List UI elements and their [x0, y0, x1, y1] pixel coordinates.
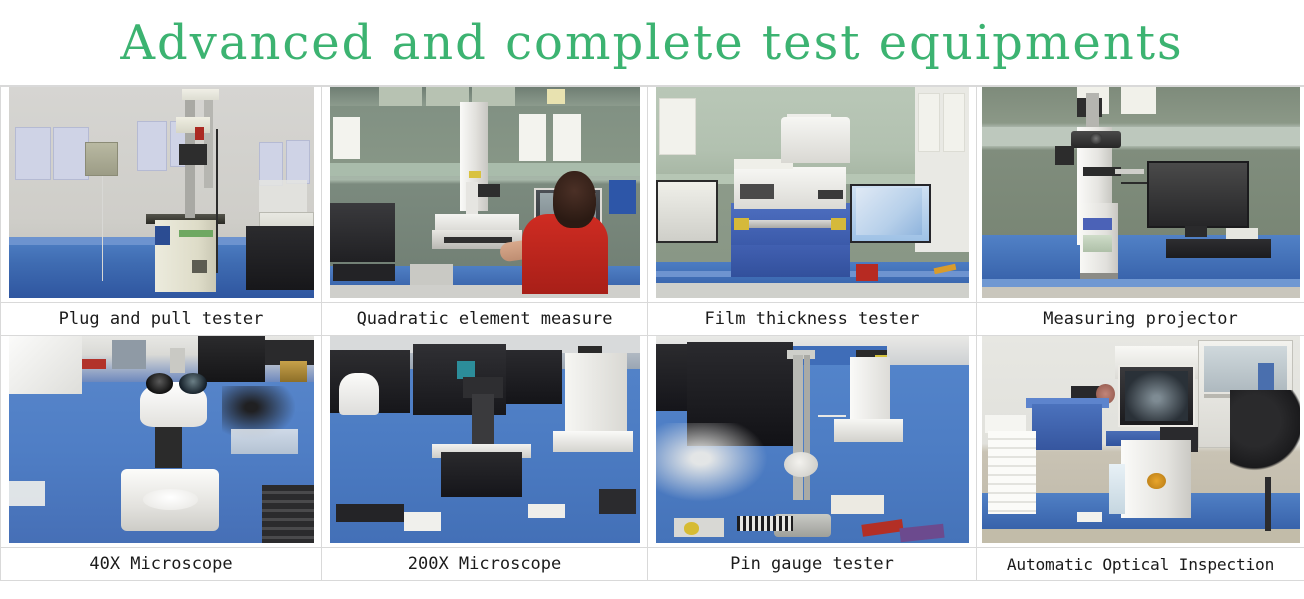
right-monitor-screen [856, 188, 922, 234]
tester-yellow-marker [734, 218, 750, 231]
monitor-right [506, 350, 562, 404]
gallery-cell-film-thickness-tester[interactable] [648, 87, 977, 303]
gallery-caption: Measuring projector [977, 304, 1304, 335]
white-paper [9, 481, 46, 506]
monitor-stand [1185, 226, 1207, 237]
projector-neck [1086, 93, 1099, 131]
keyboard [1166, 239, 1271, 258]
red-tool [82, 359, 106, 369]
bench-clutter [656, 423, 769, 502]
measuring-projector-photo [982, 87, 1300, 298]
keyboard [336, 504, 404, 523]
gallery-caption: Quadratic element measure [322, 304, 647, 335]
caliper-dial [684, 522, 700, 534]
clear-tray [231, 429, 298, 454]
caption-cell-automatic-optical-inspection: Automatic Optical Inspection [977, 548, 1304, 581]
gallery-cell-plug-and-pull-tester[interactable] [1, 87, 322, 303]
microscope-eyepiece-left [146, 373, 173, 394]
computer-monitor [330, 203, 395, 262]
200x-microscope-photo [330, 336, 640, 543]
microscope-stage-plate [143, 489, 198, 510]
gallery-caption: Plug and pull tester [1, 304, 321, 335]
projector-arm [1115, 169, 1144, 173]
wall-document [943, 93, 965, 152]
white-paper [404, 512, 441, 531]
gallery-image-row-1 [1, 87, 1304, 303]
dark-box [599, 489, 636, 514]
red-hand-tool [861, 520, 903, 538]
caption-cell-plug-and-pull-tester: Plug and pull tester [1, 303, 322, 336]
gallery-caption: Pin gauge tester [648, 549, 976, 580]
equipment-gallery-table: Plug and pull tester Quadratic element m… [0, 86, 1304, 581]
gallery-caption: 200X Microscope [322, 549, 647, 580]
white-box [831, 495, 884, 514]
gallery-cell-quadratic-element-measure[interactable] [322, 87, 648, 303]
parts-tray [410, 264, 453, 285]
gallery-cell-automatic-optical-inspection[interactable] [977, 336, 1304, 548]
wall-document [333, 117, 361, 159]
wall-document [15, 127, 52, 180]
blue-cabinet [609, 180, 637, 214]
cabinet-glass-door [1204, 346, 1287, 392]
wall-cable [102, 176, 104, 282]
computer-monitor [1147, 161, 1249, 229]
tester-column [204, 93, 213, 188]
metal-stand [112, 340, 146, 369]
wall-document [1121, 87, 1156, 114]
automatic-optical-inspection-photo [982, 336, 1300, 543]
binder [1258, 363, 1274, 390]
gallery-caption-row-2: 40X Microscope 200X Microscope Pin gauge… [1, 548, 1304, 581]
microscope-column [565, 353, 627, 440]
printer [781, 117, 850, 163]
microscope-eyepiece-right [179, 373, 206, 394]
gauge-stand-rail [793, 355, 802, 500]
projector-lcd-display [1083, 218, 1112, 231]
aoi-logo [1147, 473, 1166, 490]
plastic-bags [9, 336, 82, 394]
black-component-rack [262, 485, 314, 543]
left-monitor [656, 180, 719, 243]
gauge-cable [818, 415, 846, 417]
gallery-caption-row-1: Plug and pull tester Quadratic element m… [1, 303, 1304, 336]
tester-rail [734, 220, 847, 228]
keyboard [333, 264, 395, 281]
quadratic-element-measure-photo [330, 87, 640, 298]
tester-display-panel [155, 226, 170, 245]
floor [982, 287, 1300, 298]
tester-label [179, 230, 213, 236]
gallery-caption: Automatic Optical Inspection [977, 549, 1304, 580]
pin-gauge-tester-photo [656, 336, 969, 543]
purple-tool [899, 524, 944, 543]
tester-wire [216, 129, 218, 272]
page-title-row: Advanced and complete test equipments [0, 0, 1304, 86]
gallery-image-row-2 [1, 336, 1304, 548]
white-paper [528, 504, 565, 518]
microscope-stage-block [441, 452, 522, 498]
tester-indicator-lights [818, 190, 843, 198]
gallery-caption: 40X Microscope [1, 549, 321, 580]
caption-cell-measuring-projector: Measuring projector [977, 303, 1304, 336]
wall-document [519, 114, 547, 160]
wall-sticker [547, 89, 566, 104]
aoi-display-image [1125, 371, 1189, 421]
machine-clamp [444, 237, 512, 243]
microscope-top-mount [170, 348, 185, 373]
projector-keypad [1083, 235, 1112, 252]
machine-knob [478, 184, 500, 197]
wall-document [659, 98, 697, 155]
gauge-stand-rail [804, 355, 810, 500]
plug-and-pull-tester-photo [9, 87, 314, 298]
zoom-column [472, 394, 494, 448]
projector-lens [1090, 133, 1103, 144]
tester-yellow-marker [831, 218, 847, 231]
computer-monitor [246, 226, 313, 289]
equipment-gallery-page: Advanced and complete test equipments [0, 0, 1304, 599]
water-bottle [1109, 464, 1125, 514]
gallery-cell-pin-gauge-tester[interactable] [648, 336, 977, 548]
tester-nameplate [740, 184, 774, 199]
caption-cell-film-thickness-tester: Film thickness tester [648, 303, 977, 336]
gauge-dial-indicator [784, 452, 818, 477]
caption-cell-pin-gauge-tester: Pin gauge tester [648, 548, 977, 581]
workbench-edge [982, 279, 1300, 287]
caption-cell-200x-microscope: 200X Microscope [322, 548, 648, 581]
caliper [674, 518, 724, 537]
white-paper [1077, 512, 1102, 522]
white-stock-stack [988, 431, 1036, 514]
wall-document [918, 93, 940, 152]
microscope-base [553, 431, 634, 452]
shelf-box [379, 87, 422, 106]
floor [982, 529, 1300, 543]
blue-machine [1032, 404, 1102, 450]
tester-vent [192, 260, 207, 273]
film-thickness-tester-photo [656, 87, 969, 298]
wall-control-box [85, 142, 119, 176]
gallery-cell-measuring-projector[interactable] [977, 87, 1304, 303]
white-box [1226, 228, 1258, 239]
projector-side-module [1055, 146, 1074, 165]
wall-band [982, 127, 1300, 146]
page-title: Advanced and complete test equipments [120, 15, 1183, 71]
machine-label [469, 171, 481, 177]
40x-microscope-photo [9, 336, 314, 543]
caption-cell-quadratic-element-measure: Quadratic element measure [322, 303, 648, 336]
wall-document [286, 140, 310, 184]
red-container [856, 264, 878, 281]
tester-head [176, 117, 210, 134]
dark-equipment [198, 336, 265, 382]
tester-load-cell [195, 127, 204, 140]
gallery-cell-40x-microscope[interactable] [1, 336, 322, 548]
tester-gripper [179, 144, 206, 165]
microscope-base [834, 419, 903, 442]
wall-document [137, 121, 168, 172]
caption-cell-40x-microscope: 40X Microscope [1, 548, 322, 581]
projector-feet [1080, 273, 1118, 279]
wall-document [553, 114, 581, 160]
floor [656, 283, 969, 298]
gallery-cell-200x-microscope[interactable] [322, 336, 648, 548]
brass-fixtures [280, 361, 307, 382]
gallery-caption: Film thickness tester [648, 304, 976, 335]
tester-crosshead [182, 89, 219, 100]
pin-gauge-set [737, 516, 793, 530]
operator-head [553, 171, 596, 228]
desk-lamp [339, 373, 379, 414]
pedestal-fan [1230, 390, 1300, 494]
